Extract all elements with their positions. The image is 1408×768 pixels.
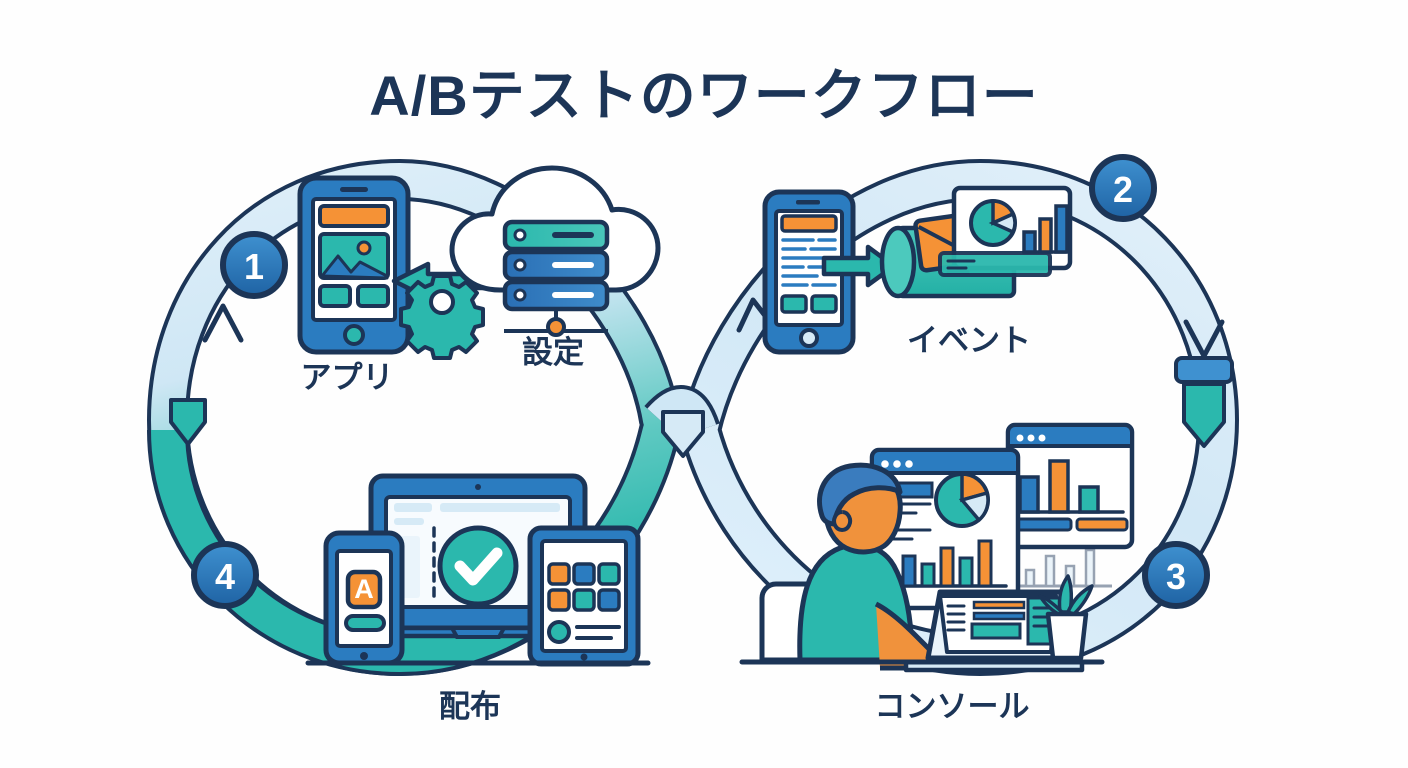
step-badge-4-number: 4 [215, 556, 235, 597]
step-badge-2-number: 2 [1113, 169, 1133, 210]
step-badge-1[interactable]: 1 [223, 234, 285, 296]
variant-a-letter: A [354, 574, 374, 604]
step-label-app: アプリ [301, 360, 394, 395]
page-title: A/Bテストのワークフロー [369, 64, 1038, 127]
variant-a-phone: A [326, 533, 402, 663]
distribute-devices-illustration: A [308, 476, 648, 664]
settings-label: 設定 [522, 335, 584, 370]
step-label-event: イベント [907, 323, 1031, 358]
analytics-card-pie [971, 201, 1015, 245]
console-window-pie [936, 474, 988, 526]
gear-icon [401, 276, 483, 358]
step-badge-3[interactable]: 3 [1145, 544, 1207, 606]
infographic-canvas: A [0, 0, 1408, 768]
analytics-card-illustration [940, 188, 1070, 275]
app-phone-illustration [300, 178, 408, 352]
tablet-device [530, 528, 638, 664]
step-badge-1-number: 1 [244, 246, 264, 287]
step-label-console: コンソール [875, 689, 1030, 724]
step-badge-3-number: 3 [1166, 556, 1186, 597]
step-badge-2[interactable]: 2 [1092, 157, 1154, 219]
step-badge-4[interactable]: 4 [194, 544, 256, 606]
check-circle-icon [440, 528, 516, 604]
console-scene-illustration [742, 425, 1132, 670]
console-window-right [1008, 425, 1132, 547]
workflow-diagram: A [0, 0, 1408, 768]
network-node-dot [548, 319, 564, 335]
step-label-distribute: 配布 [439, 689, 501, 724]
app-banner [320, 206, 388, 226]
